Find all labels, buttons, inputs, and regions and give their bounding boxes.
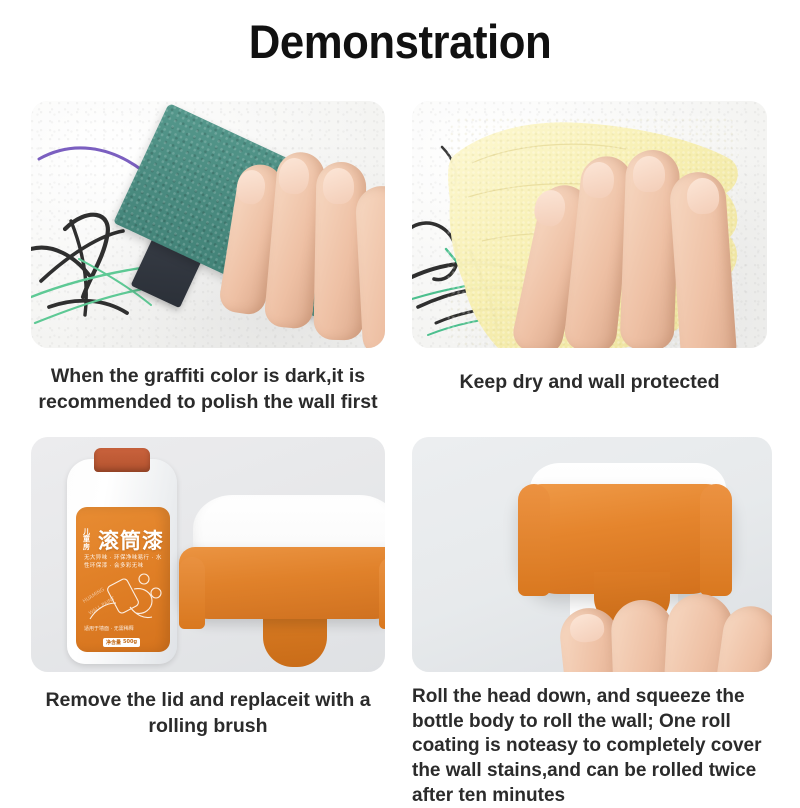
label-brand-text: 滚筒漆 <box>98 525 164 555</box>
label-side-text: 儿童房 <box>83 529 96 551</box>
roller-arm-left <box>179 557 205 629</box>
step-4-caption: Roll the head down, and squeeze the bott… <box>412 685 772 808</box>
photo-bottle-and-roller: 儿童房 滚筒漆 无大异味 · 环保净味易行 · 水性环保漆 · 会多彩无味 HU… <box>31 437 385 672</box>
step-1-caption: When the graffiti color is dark,it is re… <box>31 364 385 415</box>
label-footer-text: 适用于墙面 · 无需稀释 <box>84 626 160 634</box>
roller-arm-right <box>379 557 385 629</box>
roller-body <box>179 547 385 619</box>
net-weight-label: 净含量 <box>106 639 121 646</box>
hand <box>527 138 757 348</box>
step-4: Roll the head down, and squeeze the bott… <box>412 437 772 808</box>
step-3: 儿童房 滚筒漆 无大异味 · 环保净味易行 · 水性环保漆 · 会多彩无味 HU… <box>31 437 385 739</box>
step-3-caption: Remove the lid and replaceit with a roll… <box>31 688 385 739</box>
step-2-caption: Keep dry and wall protected <box>412 370 767 396</box>
photo-rolling-wall <box>412 437 772 672</box>
net-weight-value: 500g <box>123 639 137 646</box>
page-title: Demonstration <box>28 14 772 69</box>
roller-brush-head <box>179 495 385 672</box>
step-2: Keep dry and wall protected <box>412 101 767 396</box>
photo-wiping-cloth <box>412 101 767 348</box>
bottle-label: 儿童房 滚筒漆 无大异味 · 环保净味易行 · 水性环保漆 · 会多彩无味 HU… <box>76 507 170 652</box>
hand <box>213 146 385 348</box>
hand <box>562 580 772 672</box>
roller-head <box>518 484 732 594</box>
bottle-cap <box>94 448 150 472</box>
net-weight-badge: 净含量 500g <box>103 638 140 647</box>
step-1: QBTAO0 3S 0 When the graffiti color is d… <box>31 101 385 415</box>
roller-illustration-icon: HUAMING WALL PAINT <box>82 563 166 631</box>
photo-sanding-block: QBTAO0 3S 0 <box>31 101 385 348</box>
roller-arm-left <box>518 484 550 596</box>
